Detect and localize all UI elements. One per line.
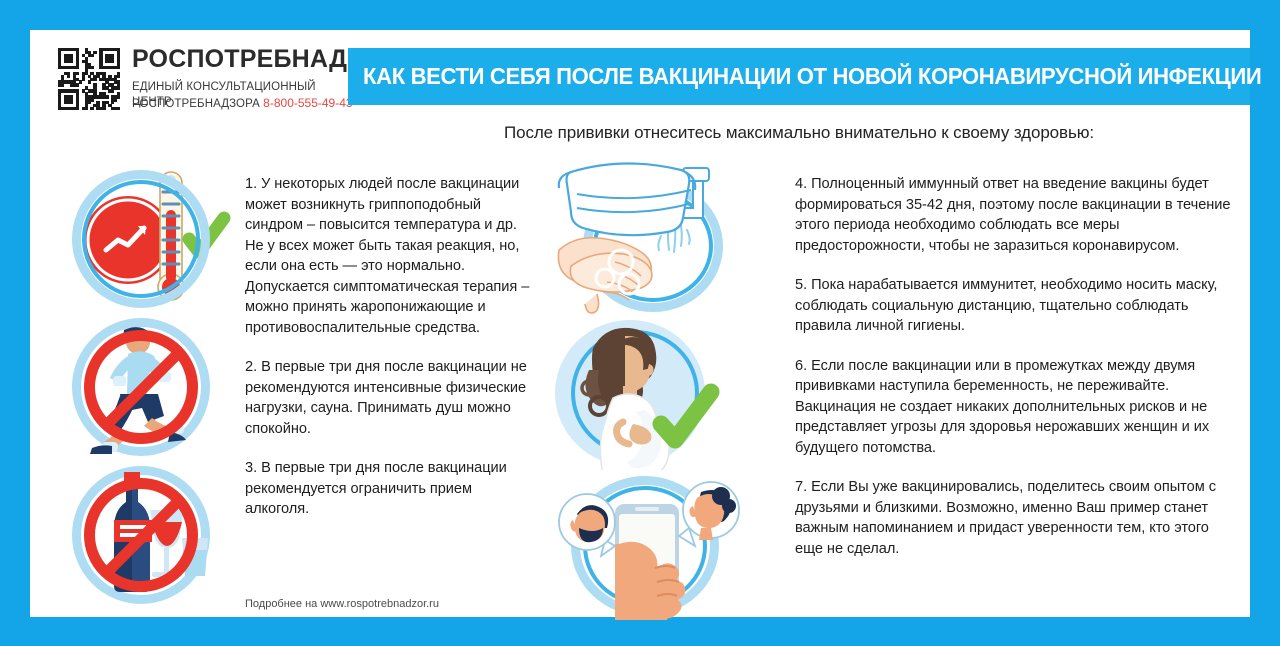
body-area: 1. У некоторых людей после вакцинации мо… [30,158,1250,617]
paragraph-6: 6. Если после вакцинации или в промежутк… [795,356,1233,459]
content-panel: РОСПОТРЕБНАДЗОР ЕДИНЫЙ КОНСУЛЬТАЦИОННЫЙ … [30,30,1250,617]
qr-code-icon [58,48,120,110]
share-experience-phone-icon [515,470,805,620]
paragraph-2: 2. В первые три дня после вакцинации не … [245,357,535,439]
paragraph-1: 1. У некоторых людей после вакцинации мо… [245,174,535,338]
logo-block: РОСПОТРЕБНАДЗОР ЕДИНЫЙ КОНСУЛЬТАЦИОННЫЙ … [58,44,358,124]
banner-title: КАК ВЕСТИ СЕБЯ ПОСЛЕ ВАКЦИНАЦИИ ОТ НОВОЙ… [348,63,1261,90]
fever-thermometer-icon [58,166,233,314]
brand-subtitle-text: РОСПОТРЕБНАДЗОРА [132,98,260,110]
pregnant-woman-icon [515,318,805,470]
paragraph-5: 5. Пока нарабатывается иммунитет, необхо… [795,275,1233,337]
lead-text: После прививки отнеситесь максимально вн… [348,123,1250,143]
no-running-icon [58,314,233,462]
hotline-phone[interactable]: 8-800-555-49-43 [263,96,352,110]
title-banner: КАК ВЕСТИ СЕБЯ ПОСЛЕ ВАКЦИНАЦИИ ОТ НОВОЙ… [348,48,1250,105]
left-text-column: 1. У некоторых людей после вакцинации мо… [245,174,535,539]
right-text-column: 4. Полноценный иммунный ответ на введени… [795,174,1233,578]
paragraph-7: 7. Если Вы уже вакцинировались, поделите… [795,477,1233,559]
brand-subtitle-line2: РОСПОТРЕБНАДЗОРА 8-800-555-49-43 [132,96,353,112]
no-alcohol-icon [58,462,233,610]
footnote-url[interactable]: Подробнее на www.rospotrebnadzor.ru [245,598,439,610]
left-icon-column [58,166,248,610]
mask-and-handwashing-icon [515,158,805,318]
middle-icon-column [515,158,805,620]
paragraph-3: 3. В первые три дня после вакцинации рек… [245,458,535,520]
paragraph-4: 4. Полноценный иммунный ответ на введени… [795,174,1233,256]
poster-root: РОСПОТРЕБНАДЗОР ЕДИНЫЙ КОНСУЛЬТАЦИОННЫЙ … [0,0,1280,646]
